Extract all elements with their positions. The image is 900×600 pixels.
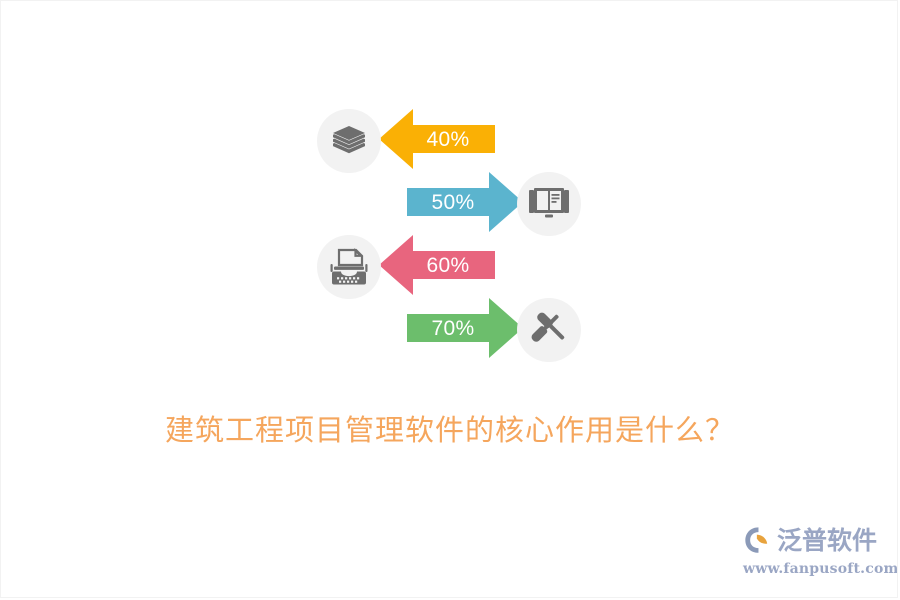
- books-stack-icon: [329, 121, 369, 161]
- crossed-hammers-icon: [528, 309, 570, 351]
- watermark-top-row: 泛普软件: [743, 521, 883, 559]
- arrow-60: 60%: [379, 235, 495, 295]
- page-title: 建筑工程项目管理软件的核心作用是什么？: [1, 407, 898, 449]
- percentage-arrow-infographic: 40%: [301, 96, 601, 371]
- arrow-50: 50%: [407, 172, 523, 232]
- watermark-logo: 泛普软件 www.fanpusoft.com: [743, 521, 883, 583]
- arrow-label-60: 60%: [427, 255, 470, 276]
- arrow-label-70: 70%: [432, 318, 475, 339]
- open-book-icon: [528, 185, 570, 223]
- arrow-label-40: 40%: [427, 129, 470, 150]
- crossed-hammers-icon-badge: [517, 298, 581, 362]
- open-book-icon-badge: [517, 172, 581, 236]
- arrow-70: 70%: [407, 298, 523, 358]
- screenshot-canvas: 40%: [0, 0, 898, 598]
- arrow-40: 40%: [379, 109, 495, 169]
- watermark-url-text: www.fanpusoft.com: [743, 561, 883, 577]
- books-stack-icon-badge: [317, 109, 381, 173]
- typewriter-icon-badge: [317, 235, 381, 299]
- watermark-brand-text: 泛普软件: [777, 528, 877, 553]
- fanpu-logo-mark-icon: [743, 525, 773, 555]
- arrow-label-50: 50%: [432, 192, 475, 213]
- typewriter-icon: [328, 247, 370, 287]
